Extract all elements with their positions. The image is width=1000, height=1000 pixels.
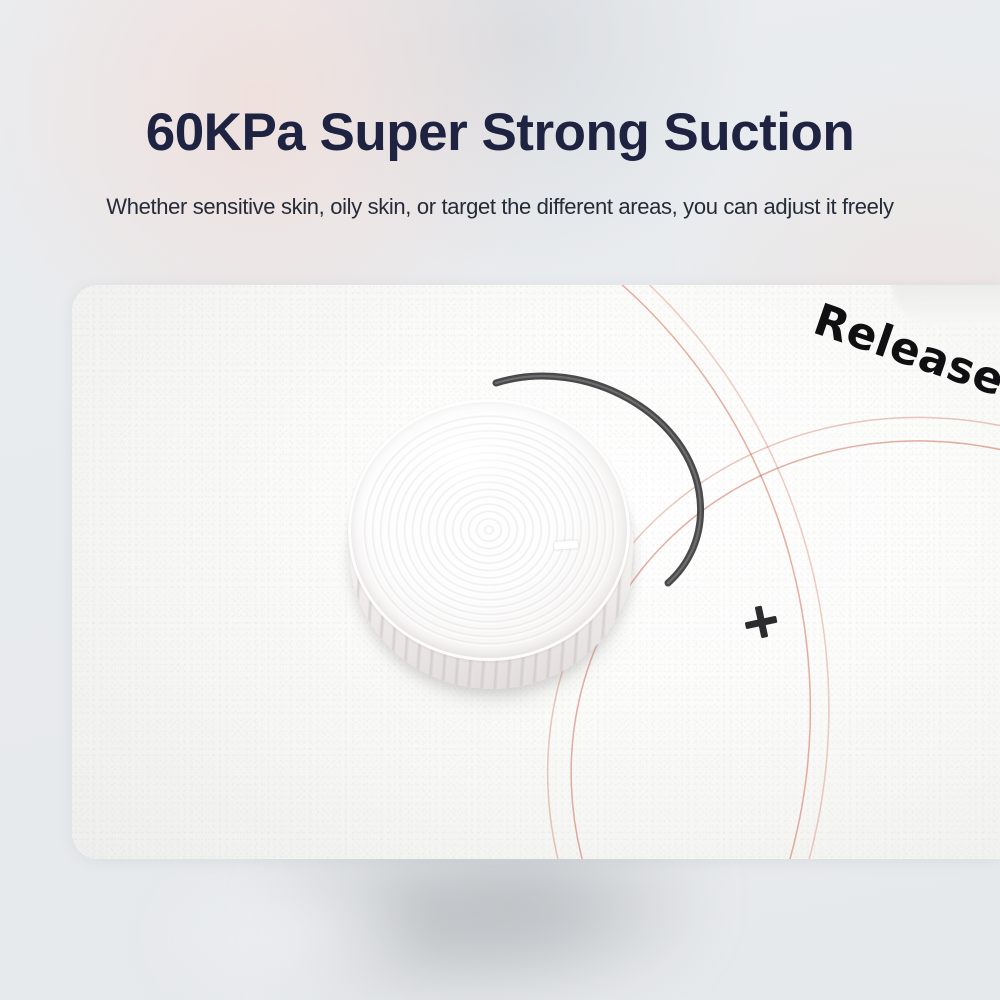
page-title: 60KPa Super Strong Suction xyxy=(0,103,1000,162)
promo-banner: 60KPa Super Strong Suction Whether sensi… xyxy=(0,0,1000,1000)
page-subtitle: Whether sensitive skin, oily skin, or ta… xyxy=(0,194,1000,220)
background-blur-foreground-secondary xyxy=(120,880,450,1000)
knob-top-face xyxy=(348,399,630,661)
knob-specular-highlight xyxy=(388,417,538,495)
suction-adjust-knob[interactable] xyxy=(342,395,642,695)
product-photo: Release Stepless adjustable suction xyxy=(72,285,1000,859)
knob-indicator-tick xyxy=(554,540,578,550)
plus-symbol-icon xyxy=(741,602,781,642)
